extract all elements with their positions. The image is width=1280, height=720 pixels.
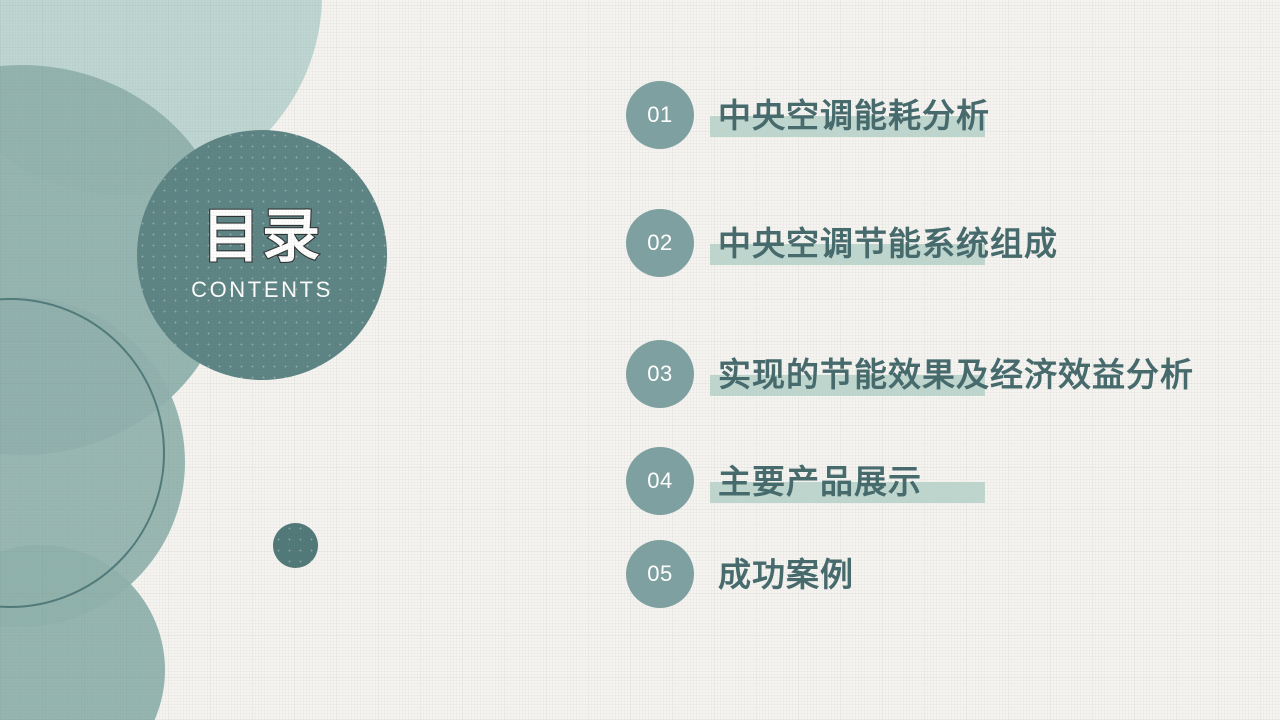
agenda-label-wrap: 中央空调能耗分析 [718, 80, 990, 150]
agenda-number-badge: 02 [626, 209, 694, 277]
agenda-item-05[interactable]: 05成功案例 [626, 539, 854, 609]
agenda-list: 01中央空调能耗分析02中央空调节能系统组成03实现的节能效果及经济效益分析04… [626, 80, 1266, 640]
agenda-number-badge: 01 [626, 81, 694, 149]
agenda-label-wrap: 成功案例 [718, 539, 854, 609]
agenda-number-badge: 04 [626, 447, 694, 515]
contents-title-circle: 目录 CONTENTS [137, 130, 387, 380]
agenda-item-02[interactable]: 02中央空调节能系统组成 [626, 208, 1058, 278]
agenda-item-label: 成功案例 [718, 558, 854, 591]
agenda-label-wrap: 中央空调节能系统组成 [718, 208, 1058, 278]
agenda-item-label: 中央空调能耗分析 [718, 99, 990, 132]
agenda-item-01[interactable]: 01中央空调能耗分析 [626, 80, 990, 150]
agenda-item-label: 中央空调节能系统组成 [718, 227, 1058, 260]
page-title-cn: 目录 [202, 208, 322, 266]
agenda-item-label: 主要产品展示 [718, 465, 922, 498]
agenda-label-wrap: 实现的节能效果及经济效益分析 [718, 339, 1194, 409]
agenda-item-03[interactable]: 03实现的节能效果及经济效益分析 [626, 339, 1194, 409]
agenda-item-04[interactable]: 04主要产品展示 [626, 446, 922, 516]
agenda-number-badge: 03 [626, 340, 694, 408]
agenda-number-badge: 05 [626, 540, 694, 608]
decorative-dot [273, 523, 318, 568]
page-title-en: CONTENTS [191, 277, 333, 303]
agenda-label-wrap: 主要产品展示 [718, 446, 922, 516]
agenda-item-label: 实现的节能效果及经济效益分析 [718, 358, 1194, 391]
slide-canvas: 目录 CONTENTS 01中央空调能耗分析02中央空调节能系统组成03实现的节… [0, 0, 1280, 720]
